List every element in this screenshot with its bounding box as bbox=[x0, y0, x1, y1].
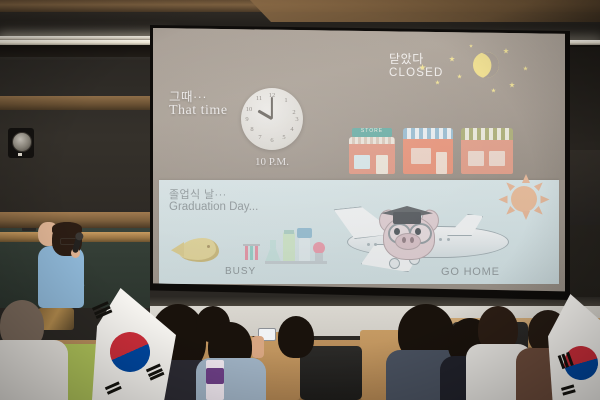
clock-minute-hand bbox=[271, 97, 273, 119]
slide-status-english: CLOSED bbox=[389, 67, 444, 79]
audience-shoulders bbox=[0, 340, 68, 400]
star-icon bbox=[469, 44, 473, 48]
star-icon bbox=[435, 80, 440, 85]
bottle-label bbox=[206, 368, 224, 384]
shop-icon bbox=[403, 124, 453, 174]
shop-icon bbox=[461, 124, 513, 174]
fish-bread-icon bbox=[179, 238, 219, 262]
sun-icon bbox=[511, 186, 537, 212]
projection-screen: 그때··· That time 12 1 2 3 4 5 6 7 8 9 10 … bbox=[153, 28, 565, 294]
star-icon bbox=[449, 56, 455, 62]
star-icon bbox=[509, 82, 515, 88]
wood-beam bbox=[0, 96, 160, 110]
seat-back bbox=[300, 346, 362, 400]
slide-bottom-panel: 졸업식 날··· Graduation Day... bbox=[159, 180, 559, 284]
lecture-hall-photo: 그때··· That time 12 1 2 3 4 5 6 7 8 9 10 … bbox=[0, 0, 600, 400]
clock-time-label: 10 P.M. bbox=[239, 156, 305, 168]
korean-flag-right bbox=[548, 294, 600, 400]
speaker-cone bbox=[12, 132, 32, 152]
wall-speaker bbox=[8, 128, 34, 158]
graduation-heading-korean: 졸업식 날··· bbox=[169, 186, 227, 202]
speaker-led bbox=[18, 153, 22, 156]
ceiling-wood-trim bbox=[250, 0, 600, 22]
slide-heading-english: That time bbox=[169, 103, 228, 119]
korean-flag-left bbox=[92, 288, 176, 400]
slide-status-korean: 닫았다 bbox=[389, 50, 424, 67]
busy-label: BUSY bbox=[225, 266, 256, 277]
slide-top-panel: 그때··· That time 12 1 2 3 4 5 6 7 8 9 10 … bbox=[153, 28, 565, 180]
store-icon: STORE bbox=[349, 126, 395, 174]
graduation-cap-crown bbox=[393, 212, 421, 224]
star-icon bbox=[503, 48, 509, 54]
airplane-wheel bbox=[389, 258, 400, 269]
clock-icon: 12 1 2 3 4 5 6 7 8 9 10 11 bbox=[241, 88, 303, 150]
go-home-label: GO HOME bbox=[441, 266, 500, 278]
presenter bbox=[38, 222, 98, 332]
pig-with-graduation-cap-icon bbox=[379, 206, 437, 258]
audience-hand bbox=[252, 336, 264, 358]
laboratory-glassware-icon bbox=[245, 206, 331, 264]
star-icon bbox=[491, 88, 496, 93]
crescent-moon-icon bbox=[469, 48, 502, 81]
ceiling-light-strip bbox=[0, 36, 170, 40]
right-wall-panel bbox=[566, 150, 600, 225]
store-sign-text: STORE bbox=[352, 128, 392, 136]
audience-head bbox=[278, 316, 314, 358]
star-icon bbox=[523, 66, 528, 71]
star-icon bbox=[457, 74, 462, 79]
pig-snout bbox=[395, 233, 421, 250]
